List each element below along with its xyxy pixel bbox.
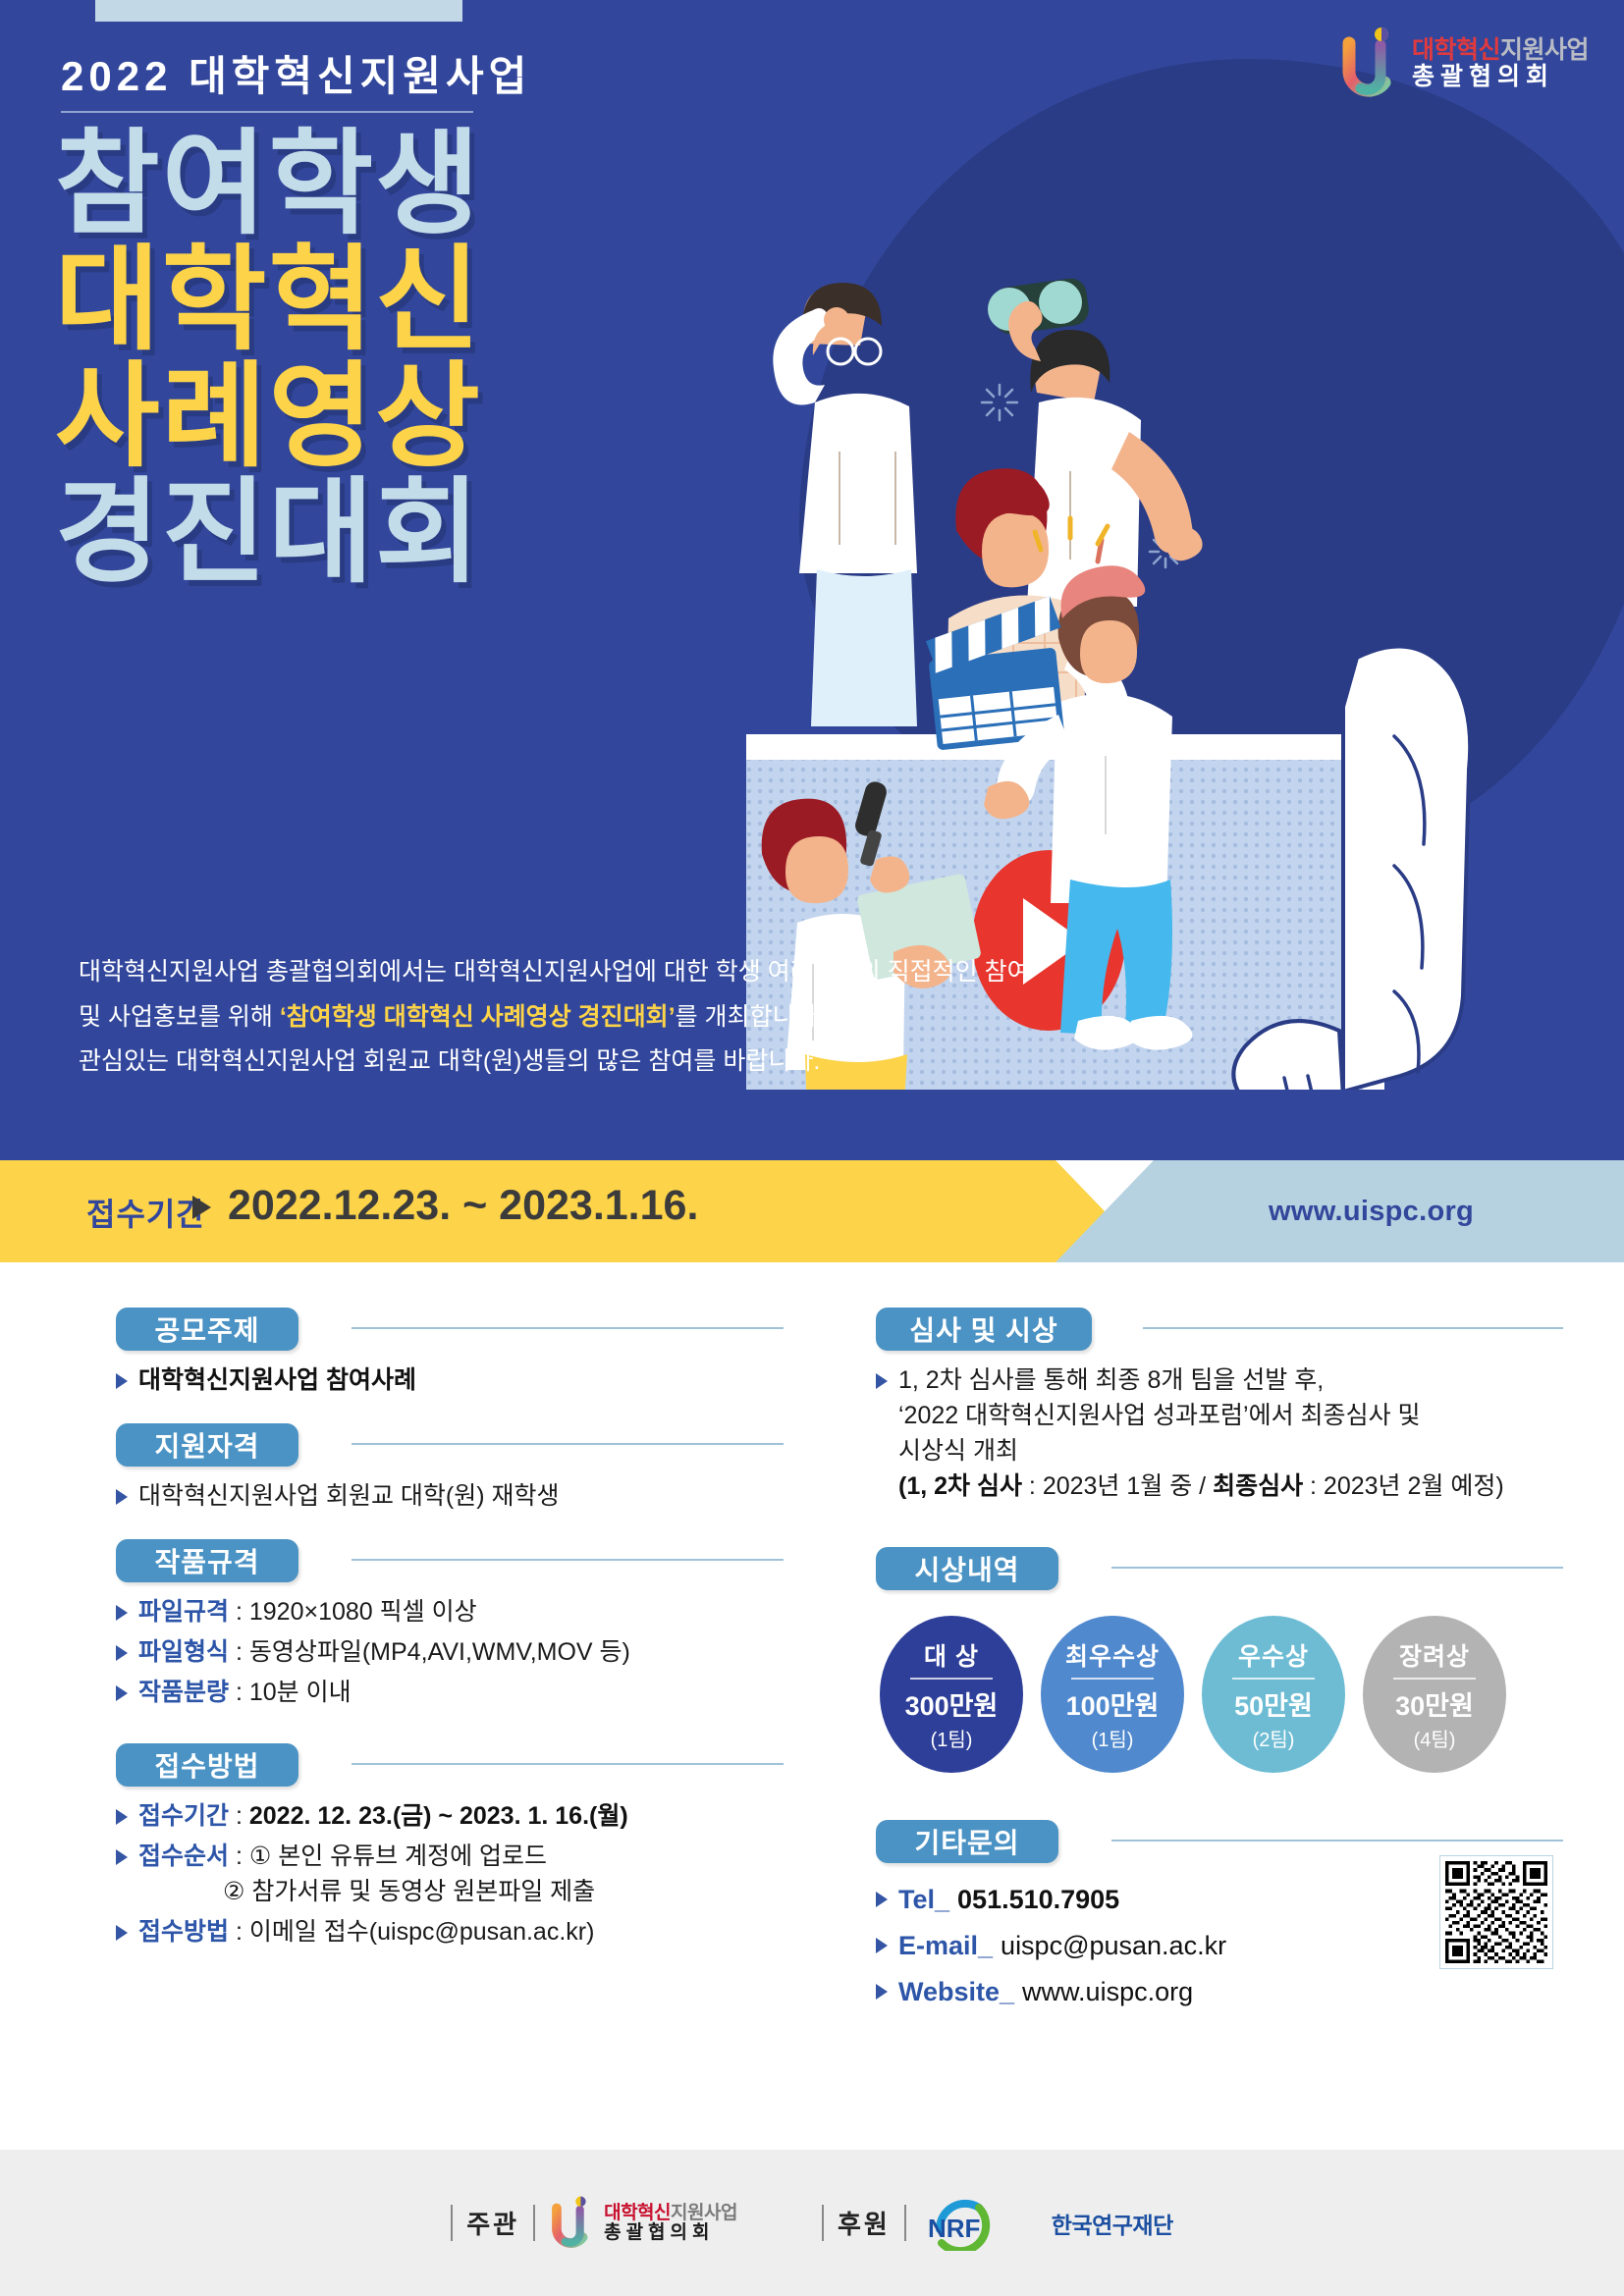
- section-topic-rule: [352, 1327, 784, 1329]
- contact-website-label: Website_: [898, 1973, 1014, 2011]
- hero-kicker: 2022 대학혁신지원사업: [61, 43, 531, 103]
- contact-tel-value: 051.510.7905: [957, 1881, 1119, 1919]
- judging-line-4-a: (1, 2차 심사: [898, 1472, 1022, 1500]
- spec-item-2-key: 파일형식: [138, 1638, 229, 1666]
- section-eligibility-header: 지원자격: [116, 1423, 784, 1472]
- list-item: 작품분량 : 10분 이내: [116, 1675, 784, 1710]
- application-period-banner: 접수기간 2022.12.23. ~ 2023.1.16. www.uispc.…: [0, 1160, 1624, 1262]
- section-awards-header: 시상내역: [876, 1547, 1563, 1596]
- award-name: 장려상: [1399, 1637, 1470, 1673]
- organizer-logo-header: 대학혁신지원사업 총괄협의회: [1341, 27, 1589, 100]
- section-judging-rule: [1143, 1327, 1563, 1329]
- list-item: 파일규격 : 1920×1080 픽셀 이상: [116, 1594, 784, 1629]
- bullet-triangle-icon: [876, 1892, 888, 1907]
- bullet-triangle-icon: [116, 1925, 128, 1941]
- list-item: 1, 2차 심사를 통해 최종 8개 팀을 선발 후, ‘2022 대학혁신지원…: [876, 1362, 1563, 1504]
- eligibility-item-1: 대학혁신지원사업 회원교 대학(원) 재학생: [138, 1478, 784, 1514]
- award-encouragement: 장려상 30만원 (4팀): [1363, 1616, 1506, 1773]
- footer-sponsor-tag: 후원: [822, 2205, 906, 2241]
- spec-item-3-value: : 10분 이내: [229, 1679, 352, 1706]
- howto-item-2-key: 접수순서: [138, 1842, 229, 1870]
- spec-item-1-value: : 1920×1080 픽셀 이상: [229, 1598, 477, 1626]
- list-item: 대학혁신지원사업 참여사례: [116, 1362, 784, 1398]
- footer-organizer-logo: 대학혁신지원사업 총괄협의회: [551, 2196, 737, 2251]
- section-spec-pill: 작품규격: [116, 1539, 298, 1582]
- award-divider: [1393, 1678, 1476, 1680]
- contact-website-value[interactable]: www.uispc.org: [1022, 1973, 1193, 2011]
- bullet-triangle-icon: [876, 1984, 888, 2000]
- spec-item-1: 파일규격 : 1920×1080 픽셀 이상: [138, 1594, 784, 1629]
- logo-text-gray: 지원사업: [1500, 36, 1589, 64]
- judging-text: 1, 2차 심사를 통해 최종 8개 팀을 선발 후, ‘2022 대학혁신지원…: [898, 1362, 1563, 1504]
- award-divider: [1232, 1678, 1315, 1680]
- section-contact: 기타문의: [876, 1820, 1563, 2011]
- banner-arrow-icon: [192, 1196, 211, 1219]
- top-accent-strip: [95, 0, 462, 22]
- topic-item-1: 대학혁신지원사업 참여사례: [138, 1362, 784, 1398]
- banner-label: 접수기간: [86, 1190, 206, 1235]
- award-divider: [910, 1678, 993, 1680]
- judging-line-4: (1, 2차 심사 : 2023년 1월 중 / 최종심사 : 2023년 2월…: [898, 1468, 1563, 1504]
- bullet-triangle-icon: [876, 1373, 888, 1389]
- award-grand-prize: 대 상 300만원 (1팀): [880, 1616, 1023, 1773]
- section-eligibility-pill: 지원자격: [116, 1423, 298, 1467]
- award-amount: 50만원: [1234, 1684, 1313, 1723]
- spec-item-1-key: 파일규격: [138, 1598, 229, 1626]
- bullet-triangle-icon: [116, 1489, 128, 1505]
- qr-code[interactable]: [1439, 1855, 1553, 1969]
- list-item: 접수순서 : ① 본인 유튜브 계정에 업로드② 참가서류 및 동영상 원본파일…: [116, 1839, 784, 1909]
- description-line-3: 관심있는 대학혁신지원사업 회원교 대학(원)생들의 많은 참여를 바랍니다.: [79, 1040, 1296, 1085]
- howto-item-3-key: 접수방법: [138, 1918, 229, 1946]
- description-line-2-emphasis: ‘참여학생 대학혁신 사례영상 경진대회’: [280, 1003, 676, 1031]
- howto-item-1-key: 접수기간: [138, 1802, 229, 1830]
- bullet-triangle-icon: [116, 1645, 128, 1661]
- hero-kicker-rule: [61, 111, 473, 113]
- list-item: 접수방법 : 이메일 접수(uispc@pusan.ac.kr): [116, 1914, 784, 1949]
- footer-logo-council: 총괄협의회: [604, 2223, 737, 2243]
- howto-item-3-value: : 이메일 접수(uispc@pusan.ac.kr): [229, 1918, 594, 1946]
- spec-item-2-value: : 동영상파일(MP4,AVI,WMV,MOV 등): [229, 1638, 630, 1666]
- award-divider: [1071, 1678, 1154, 1680]
- bullet-triangle-icon: [116, 1373, 128, 1389]
- spec-item-3-key: 작품분량: [138, 1679, 229, 1706]
- section-topic-list: 대학혁신지원사업 참여사례: [116, 1362, 784, 1398]
- award-name: 우수상: [1238, 1637, 1309, 1673]
- spec-item-3: 작품분량 : 10분 이내: [138, 1675, 784, 1710]
- howto-item-1-value: :: [229, 1802, 249, 1830]
- list-item: 대학혁신지원사업 회원교 대학(원) 재학생: [116, 1478, 784, 1514]
- hero-section: 2022 대학혁신지원사업: [0, 0, 1624, 1160]
- section-howto-list: 접수기간 : 2022. 12. 23.(금) ~ 2023. 1. 16.(월…: [116, 1798, 784, 1949]
- judging-line-3: 시상식 개최: [898, 1433, 1563, 1468]
- description-line-2-post: 를 개최합니다.: [676, 1003, 825, 1031]
- award-excellence-top: 최우수상 100만원 (1팀): [1041, 1616, 1184, 1773]
- section-judging-list: 1, 2차 심사를 통해 최종 8개 팀을 선발 후, ‘2022 대학혁신지원…: [876, 1362, 1563, 1504]
- judging-line-4-b: : 2023년 1월 중 /: [1022, 1472, 1213, 1500]
- judging-line-2: ‘2022 대학혁신지원사업 성과포럼’에서 최종심사 및: [898, 1398, 1563, 1433]
- footer-logo-gray: 지원사업: [671, 2203, 737, 2223]
- section-spec-rule: [352, 1559, 784, 1561]
- section-eligibility-list: 대학혁신지원사업 회원교 대학(원) 재학생: [116, 1478, 784, 1514]
- award-teams: (4팀): [1414, 1724, 1456, 1752]
- list-item: 접수기간 : 2022. 12. 23.(금) ~ 2023. 1. 16.(월…: [116, 1798, 784, 1834]
- description-line-2-pre: 및 사업홍보를 위해: [79, 1003, 280, 1031]
- section-contact-rule: [1111, 1840, 1563, 1842]
- award-teams: (2팀): [1253, 1724, 1295, 1752]
- award-teams: (1팀): [931, 1724, 973, 1752]
- title-line-1: 참여학생: [55, 126, 742, 241]
- section-howto-pill: 접수방법: [116, 1743, 298, 1787]
- award-name: 대 상: [924, 1637, 979, 1673]
- poster-footer: 주관: [0, 2150, 1624, 2296]
- nrf-logo-mark: NRF: [922, 2196, 1044, 2251]
- title-line-3: 사례영상: [55, 358, 742, 474]
- judging-line-4-d: : 2023년 2월 예정): [1303, 1472, 1504, 1500]
- spec-item-2: 파일형식 : 동영상파일(MP4,AVI,WMV,MOV 등): [138, 1634, 784, 1670]
- judging-line-1: 1, 2차 심사를 통해 최종 8개 팀을 선발 후,: [898, 1362, 1563, 1398]
- section-judging: 심사 및 시상 1, 2차 심사를 통해 최종 8개 팀을 선발 후, ‘202…: [876, 1308, 1563, 1504]
- description-line-2: 및 사업홍보를 위해 ‘참여학생 대학혁신 사례영상 경진대회’를 개최합니다.: [79, 995, 1296, 1041]
- footer-organizer: 주관: [451, 2196, 737, 2251]
- logo-text-council: 총괄협의회: [1412, 64, 1589, 90]
- hero-description: 대학혁신지원사업 총괄협의회에서는 대학혁신지원사업에 대한 학생 여러분들의 …: [79, 950, 1296, 1085]
- howto-item-1-strong: 2022. 12. 23.(금) ~ 2023. 1. 16.(월): [249, 1802, 628, 1830]
- footer-organizer-tag: 주관: [451, 2205, 535, 2241]
- bullet-triangle-icon: [116, 1605, 128, 1621]
- banner-website-link[interactable]: www.uispc.org: [1269, 1196, 1474, 1228]
- person-lookout: [773, 283, 917, 726]
- section-howto: 접수방법 접수기간 : 2022. 12. 23.(금) ~ 2023. 1. …: [116, 1743, 784, 1949]
- description-line-1: 대학혁신지원사업 총괄협의회에서는 대학혁신지원사업에 대한 학생 여러분들의 …: [79, 950, 1296, 995]
- section-eligibility: 지원자격 대학혁신지원사업 회원교 대학(원) 재학생: [116, 1423, 784, 1514]
- section-contact-pill: 기타문의: [876, 1820, 1058, 1863]
- hero-illustration: [746, 108, 1624, 1090]
- contact-tel-label: Tel_: [898, 1881, 949, 1919]
- award-amount: 30만원: [1395, 1684, 1474, 1723]
- bullet-triangle-icon: [116, 1849, 128, 1865]
- contact-email-label: E-mail_: [898, 1927, 993, 1965]
- award-amount: 300만원: [905, 1684, 999, 1723]
- section-spec-header: 작품규격: [116, 1539, 784, 1588]
- section-awards: 시상내역 대 상 300만원 (1팀) 최우수상 100만원 (1팀): [876, 1547, 1563, 1773]
- footer-sponsor-logo: NRF 한국연구재단: [922, 2196, 1173, 2251]
- section-awards-pill: 시상내역: [876, 1547, 1058, 1590]
- award-teams: (1팀): [1092, 1724, 1134, 1752]
- footer-sponsor-name: 한국연구재단: [1052, 2207, 1173, 2240]
- details-right-column: 심사 및 시상 1, 2차 심사를 통해 최종 8개 팀을 선발 후, ‘202…: [876, 1308, 1563, 2021]
- award-excellence: 우수상 50만원 (2팀): [1202, 1616, 1345, 1773]
- poster-root: 2022 대학혁신지원사업: [0, 0, 1624, 2296]
- howto-item-1: 접수기간 : 2022. 12. 23.(금) ~ 2023. 1. 16.(월…: [138, 1798, 784, 1834]
- award-name: 최우수상: [1065, 1637, 1160, 1673]
- footer-logo-red: 대학혁신: [604, 2203, 671, 2223]
- section-topic-header: 공모주제: [116, 1308, 784, 1357]
- contact-website: Website_ www.uispc.org: [876, 1973, 1563, 2011]
- title-line-4: 경진대회: [55, 474, 742, 590]
- bullet-triangle-icon: [876, 1938, 888, 1953]
- ui-logo-mark: [1341, 27, 1402, 100]
- details-section: 공모주제 대학혁신지원사업 참여사례 지원자격: [0, 1262, 1624, 2150]
- ui-logo-mark: [551, 2196, 596, 2251]
- section-topic-pill: 공모주제: [116, 1308, 298, 1351]
- title-line-2: 대학혁신: [55, 241, 742, 357]
- howto-item-3: 접수방법 : 이메일 접수(uispc@pusan.ac.kr): [138, 1914, 784, 1949]
- howto-item-2: 접수순서 : ① 본인 유튜브 계정에 업로드② 참가서류 및 동영상 원본파일…: [138, 1839, 784, 1909]
- award-amount: 100만원: [1066, 1684, 1160, 1723]
- section-spec: 작품규격 파일규격 : 1920×1080 픽셀 이상 파일형식 : 동영상파일…: [116, 1539, 784, 1710]
- poster-title: 참여학생 대학혁신 사례영상 경진대회: [55, 126, 742, 590]
- section-eligibility-rule: [352, 1443, 784, 1445]
- logo-text-red: 대학혁신: [1412, 36, 1500, 64]
- details-left-column: 공모주제 대학혁신지원사업 참여사례 지원자격: [116, 1308, 784, 1959]
- bullet-triangle-icon: [116, 1809, 128, 1825]
- howto-item-2-sub: ② 참가서류 및 동영상 원본파일 제출: [138, 1874, 784, 1909]
- section-judging-pill: 심사 및 시상: [876, 1308, 1092, 1351]
- section-awards-rule: [1111, 1567, 1563, 1569]
- judging-line-4-c: 최종심사: [1213, 1472, 1303, 1500]
- bullet-triangle-icon: [116, 1685, 128, 1701]
- section-judging-header: 심사 및 시상: [876, 1308, 1563, 1357]
- section-howto-rule: [352, 1763, 784, 1765]
- awards-list: 대 상 300만원 (1팀) 최우수상 100만원 (1팀) 우수상: [876, 1616, 1563, 1773]
- section-howto-header: 접수방법: [116, 1743, 784, 1792]
- section-spec-list: 파일규격 : 1920×1080 픽셀 이상 파일형식 : 동영상파일(MP4,…: [116, 1594, 784, 1710]
- section-topic: 공모주제 대학혁신지원사업 참여사례: [116, 1308, 784, 1398]
- nrf-abbr: NRF: [928, 2214, 980, 2243]
- list-item: 파일형식 : 동영상파일(MP4,AVI,WMV,MOV 등): [116, 1634, 784, 1670]
- contact-email-value[interactable]: uispc@pusan.ac.kr: [1001, 1927, 1226, 1965]
- footer-sponsor: 후원 NRF 한국연구재단: [822, 2196, 1173, 2251]
- banner-dates: 2022.12.23. ~ 2023.1.16.: [228, 1182, 698, 1230]
- howto-item-2-value: : ① 본인 유튜브 계정에 업로드: [229, 1842, 547, 1870]
